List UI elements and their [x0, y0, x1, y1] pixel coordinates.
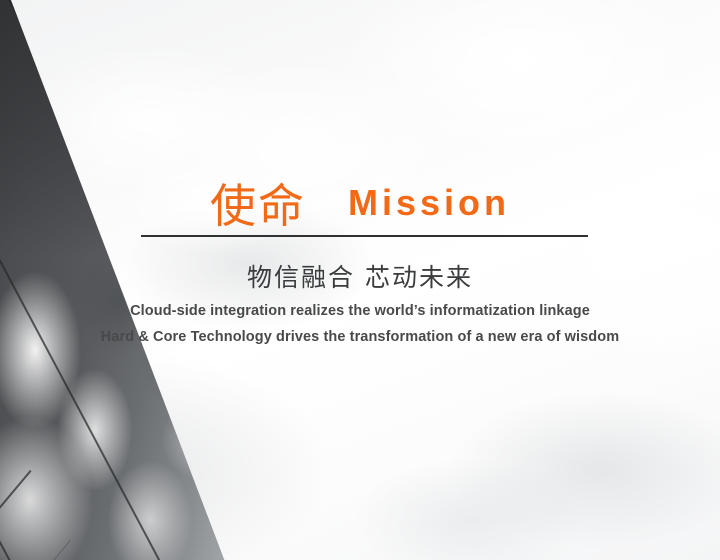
tagline-line-1: Cloud-side integration realizes the worl…: [0, 303, 720, 319]
subtitle-chinese: 物信融合 芯动未来: [0, 258, 720, 294]
banner-content: 使命Mission 物信融合 芯动未来 Cloud-side integrati…: [0, 0, 720, 560]
banner-heading: 使命Mission: [0, 170, 720, 236]
mission-banner: 使命Mission 物信融合 芯动未来 Cloud-side integrati…: [0, 0, 720, 560]
heading-english: Mission: [348, 182, 510, 224]
heading-chinese: 使命: [210, 179, 306, 233]
heading-divider-rule: [141, 235, 588, 237]
tagline-line-2: Hard & Core Technology drives the transf…: [0, 329, 720, 345]
